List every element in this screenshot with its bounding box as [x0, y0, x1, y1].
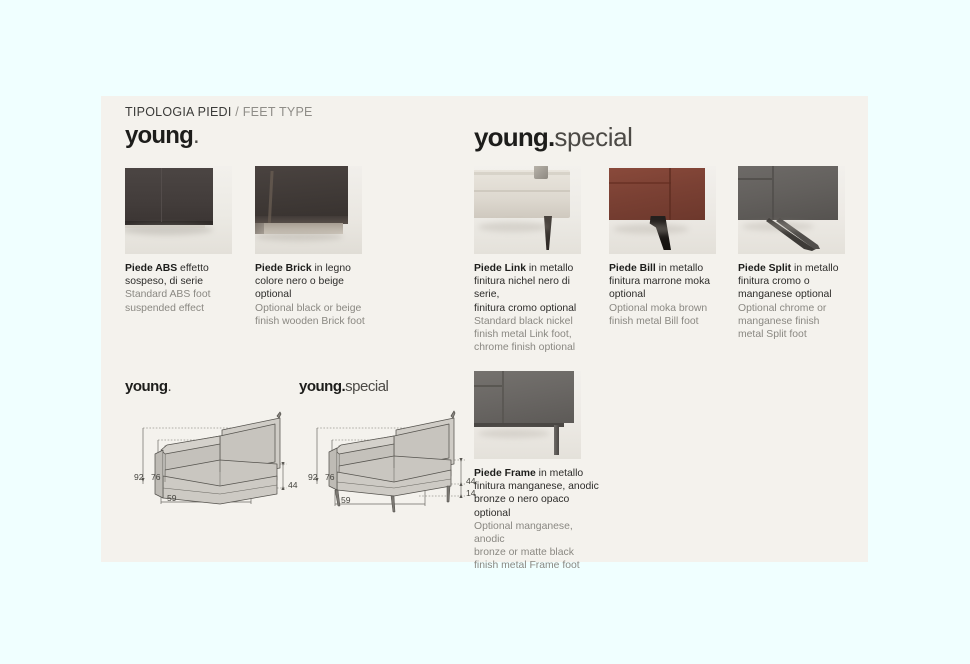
foot-name-brick: Piede Brick in legno — [255, 263, 351, 274]
foot-caption-brick: Piede Brick in legno colore nero o beige… — [255, 262, 367, 328]
foot-name-split: Piede Split in metallo — [738, 263, 838, 274]
foot-card-bill[interactable]: Piede Bill in metallo finitura marrone m… — [609, 166, 721, 328]
foot-en-line: manganese finish — [738, 315, 844, 328]
foot-card-brick[interactable]: Piede Brick in legno colore nero o beige… — [255, 166, 367, 328]
drawing-title-special-light: special — [345, 378, 388, 395]
foot-en-line: metal Split foot — [738, 328, 844, 341]
drawing-title-young-light: . — [168, 378, 172, 395]
brand-young-special-bold: young. — [474, 122, 554, 152]
foot-it-line: finitura nichel nero di serie, — [474, 275, 596, 301]
foot-card-abs[interactable]: Piede ABS effetto sospeso, di serie Stan… — [125, 166, 233, 315]
foot-en-line: suspended effect — [125, 302, 233, 315]
foot-card-link[interactable]: Piede Link in metallo finitura nichel ne… — [474, 166, 596, 354]
dim-depth-young: 59 — [167, 493, 177, 503]
piede-abs-photo — [125, 166, 232, 254]
eyebrow-english: FEET TYPE — [243, 105, 313, 119]
drawing-title-young: young. — [125, 378, 171, 395]
foot-en-line: finish metal Bill foot — [609, 315, 721, 328]
piede-link-photo — [474, 166, 581, 254]
brand-young-bold: young — [125, 122, 193, 149]
brand-young-logo: young. — [125, 122, 199, 150]
foot-en-line: Standard black nickel — [474, 315, 596, 328]
dim-seat-height-young: 44 — [288, 480, 298, 490]
foot-caption-link: Piede Link in metallo finitura nichel ne… — [474, 262, 596, 354]
foot-caption-bill: Piede Bill in metallo finitura marrone m… — [609, 262, 721, 328]
foot-en-line: finish metal Link foot, — [474, 328, 596, 341]
section-eyebrow: TIPOLOGIA PIEDI / FEET TYPE — [125, 105, 313, 119]
foot-caption-split: Piede Split in metallo finitura cromo o … — [738, 262, 844, 341]
foot-it-line: colore nero o beige — [255, 275, 367, 288]
brand-young-special-light: special — [554, 122, 632, 152]
foot-en-line: Optional moka brown — [609, 302, 721, 315]
technical-drawing-young-special: young.special — [299, 378, 539, 508]
eyebrow-separator: / — [235, 105, 239, 119]
foot-name-abs: Piede ABS effetto — [125, 263, 209, 274]
foot-name-bill: Piede Bill in metallo — [609, 263, 703, 274]
dim-depth-special: 59 — [341, 495, 351, 505]
piede-split-photo — [738, 166, 845, 254]
foot-it-line: finitura cromo optional — [474, 302, 596, 315]
foot-en-line: Optional black or beige — [255, 302, 367, 315]
brand-young-light: . — [193, 122, 199, 149]
dim-height-back-young: 92 — [134, 472, 144, 482]
foot-name-link: Piede Link in metallo — [474, 263, 573, 274]
dim-height-arm-special: 76 — [325, 472, 335, 482]
foot-en-line: chrome finish optional — [474, 341, 596, 354]
young-special-armchair-drawing — [299, 406, 539, 522]
dim-foot-height-special: 14 — [466, 488, 476, 498]
foot-en-line: finish metal Frame foot — [474, 559, 602, 572]
drawing-title-young-bold: young — [125, 378, 168, 395]
foot-en-line: Optional chrome or — [738, 302, 844, 315]
foot-caption-abs: Piede ABS effetto sospeso, di serie Stan… — [125, 262, 233, 315]
dim-height-back-special: 92 — [308, 472, 318, 482]
eyebrow-italian: TIPOLOGIA PIEDI — [125, 105, 232, 119]
drawing-title-young-special: young.special — [299, 378, 388, 395]
foot-it-line: optional — [609, 288, 721, 301]
piede-brick-photo — [255, 166, 362, 254]
dim-seat-height-special: 44 — [466, 476, 476, 486]
brand-young-special-logo: young.special — [474, 122, 633, 153]
foot-en-line: bronze or matte black — [474, 546, 602, 559]
foot-card-split[interactable]: Piede Split in metallo finitura cromo o … — [738, 166, 844, 341]
foot-it-line: optional — [255, 288, 367, 301]
dim-height-arm-young: 76 — [151, 472, 161, 482]
foot-en-line: finish wooden Brick foot — [255, 315, 367, 328]
catalog-page: TIPOLOGIA PIEDI / FEET TYPE young. young… — [0, 0, 970, 664]
feet-type-panel: TIPOLOGIA PIEDI / FEET TYPE young. young… — [101, 96, 868, 562]
foot-it-line: finitura cromo o — [738, 275, 844, 288]
foot-it-line: sospeso, di serie — [125, 275, 233, 288]
drawing-title-special-bold: young. — [299, 378, 345, 395]
piede-bill-photo — [609, 166, 716, 254]
foot-en-line: Standard ABS foot — [125, 288, 233, 301]
foot-en-line: Optional manganese, anodic — [474, 520, 602, 546]
foot-it-line: manganese optional — [738, 288, 844, 301]
foot-it-line: finitura marrone moka — [609, 275, 721, 288]
